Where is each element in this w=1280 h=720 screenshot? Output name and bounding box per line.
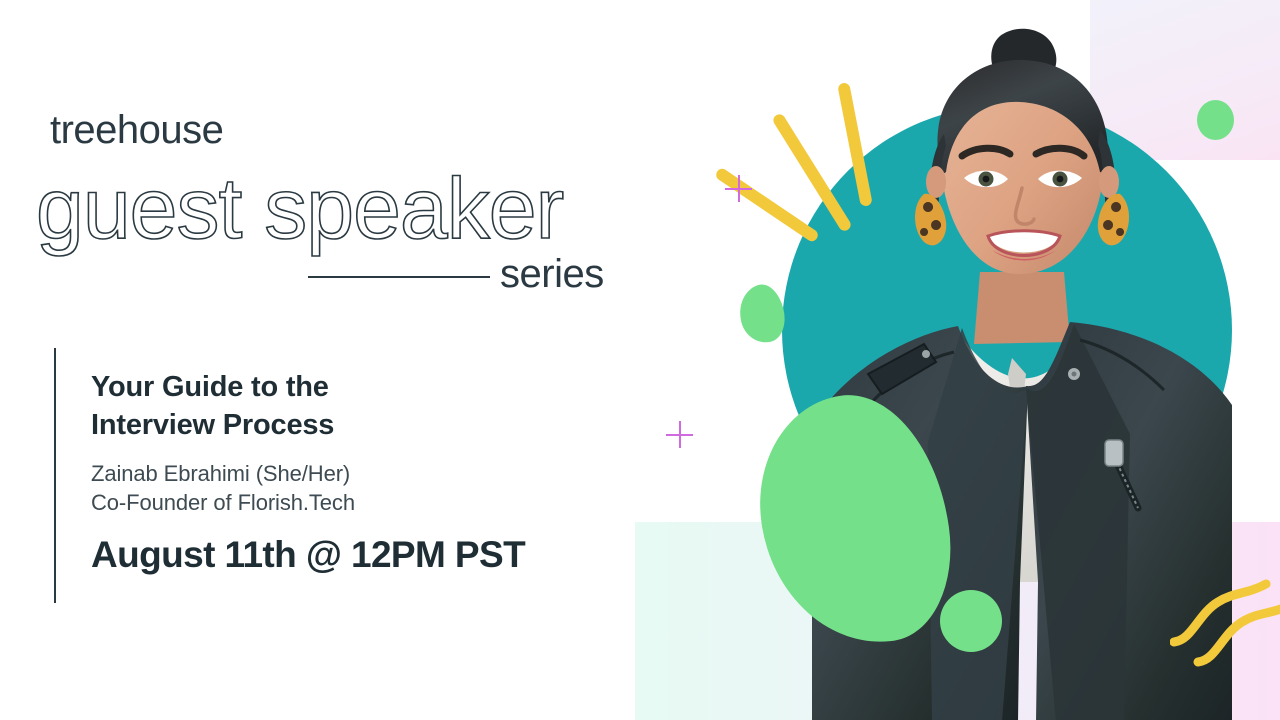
plus-mark-lower [666,421,693,448]
session-details: Your Guide to the Interview Process Zain… [91,368,611,576]
brand-wordmark: treehouse [50,108,223,153]
slide-canvas: treehouse guest speaker series Your Guid… [0,0,1280,720]
plus-mark-upper [725,175,752,202]
green-dot-top-right [1197,100,1234,140]
session-datetime: August 11th @ 12PM PST [91,534,611,576]
speaker-role: Co-Founder of Florish.Tech [91,488,611,518]
session-title-line-2: Interview Process [91,406,611,444]
session-title: Your Guide to the Interview Process [91,368,611,445]
headline-outline: guest speaker [36,160,563,259]
speaker-info: Zainab Ebrahimi (She/Her) Co-Founder of … [91,459,611,518]
wavy-lines-decor [1170,570,1280,690]
green-dot-bottom [940,590,1002,652]
series-row: series [308,252,628,300]
series-divider-rule [308,276,490,278]
session-title-line-1: Your Guide to the [91,368,611,406]
series-label: series [500,252,604,297]
vertical-accent-rule [54,348,56,603]
speaker-name: Zainab Ebrahimi (She/Her) [91,459,611,489]
